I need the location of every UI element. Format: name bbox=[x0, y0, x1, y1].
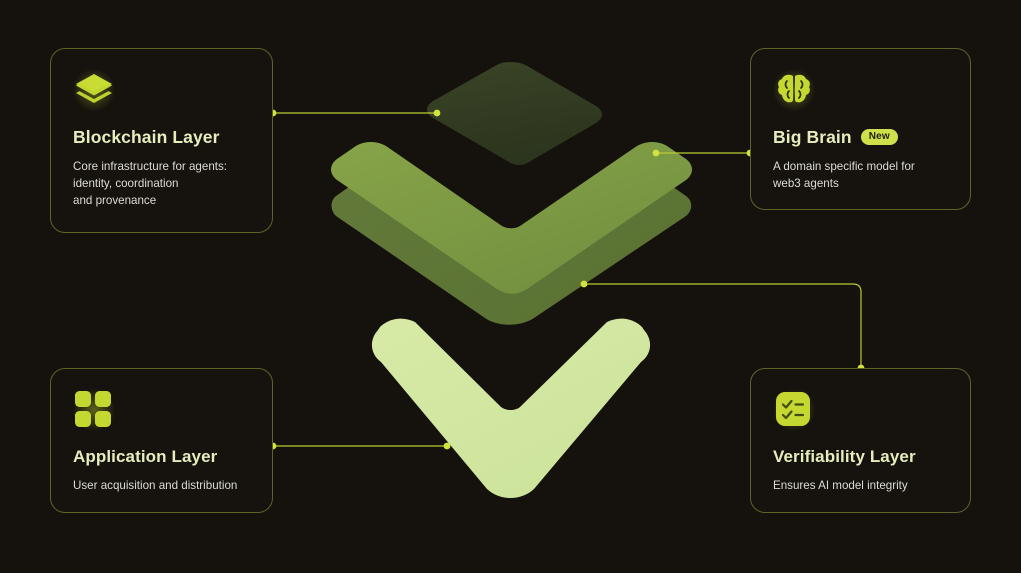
card-title-text: Application Layer bbox=[73, 447, 217, 467]
checklist-icon bbox=[773, 389, 815, 431]
card-description: Core infrastructure for agents: identity… bbox=[73, 158, 250, 209]
layers-icon bbox=[73, 69, 115, 111]
connector-dot-blockchain-end bbox=[434, 110, 441, 117]
card-verifiability-layer[interactable]: Verifiability Layer Ensures AI model int… bbox=[750, 368, 971, 513]
diagram-stage: Blockchain Layer Core infrastructure for… bbox=[0, 0, 1021, 573]
card-description: Ensures AI model integrity bbox=[773, 477, 948, 494]
card-big-brain[interactable]: Big Brain New A domain specific model fo… bbox=[750, 48, 971, 210]
card-description: A domain specific model for web3 agents bbox=[773, 158, 948, 192]
connector-dot-application-end bbox=[444, 443, 451, 450]
card-title-text: Big Brain bbox=[773, 127, 852, 147]
card-title-text: Blockchain Layer bbox=[73, 127, 220, 147]
card-blockchain-layer[interactable]: Blockchain Layer Core infrastructure for… bbox=[50, 48, 273, 233]
connector-dot-verifiability-start bbox=[581, 281, 588, 288]
connector-verifiability-layer bbox=[584, 284, 861, 368]
card-title: Big Brain New bbox=[773, 127, 948, 147]
card-title: Application Layer bbox=[73, 447, 250, 467]
card-application-layer[interactable]: Application Layer User acquisition and d… bbox=[50, 368, 273, 513]
card-title: Blockchain Layer bbox=[73, 127, 250, 147]
brain-icon bbox=[773, 69, 815, 111]
card-title: Verifiability Layer bbox=[773, 447, 948, 467]
status-badge-new: New bbox=[861, 129, 898, 145]
grid-icon bbox=[73, 389, 115, 431]
connector-dot-bigbrain-start bbox=[653, 150, 660, 157]
card-description: User acquisition and distribution bbox=[73, 477, 250, 494]
card-title-text: Verifiability Layer bbox=[773, 447, 916, 467]
